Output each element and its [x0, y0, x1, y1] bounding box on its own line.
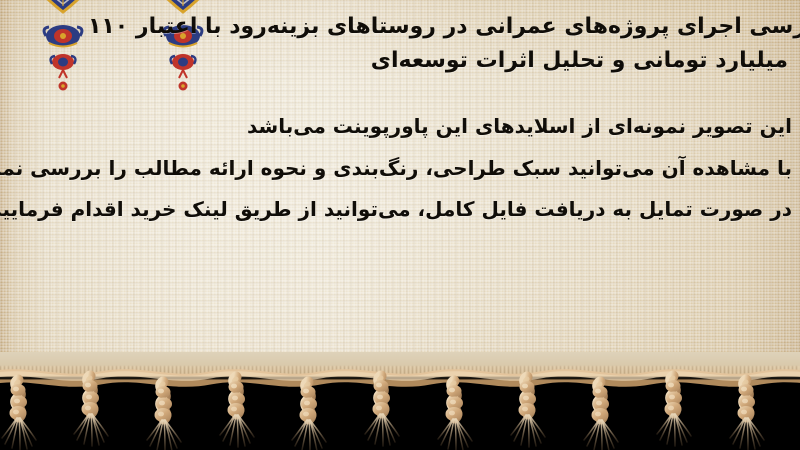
slide-body-line-1: این تصویر نمونه‌ای از اسلایدهای این پاور… — [247, 114, 792, 138]
slide-body-line-3: در صورت تمایل به دریافت فایل کامل، می‌تو… — [0, 197, 792, 221]
slide-canvas: رسی اجرای پروژه‌های عمرانی در روستاهای ب… — [0, 0, 800, 450]
slide-title-line-2: میلیارد تومانی و تحلیل اثرات توسعه‌ای — [371, 48, 788, 73]
text-layer: رسی اجرای پروژه‌های عمرانی در روستاهای ب… — [0, 0, 800, 380]
fringe-tassels — [0, 352, 800, 450]
carpet-fringe-band — [0, 352, 800, 450]
slide-body-line-2: با مشاهده آن می‌توانید سبک طراحی، رنگ‌بن… — [0, 156, 792, 180]
slide-title-line-1: رسی اجرای پروژه‌های عمرانی در روستاهای ب… — [88, 14, 800, 39]
